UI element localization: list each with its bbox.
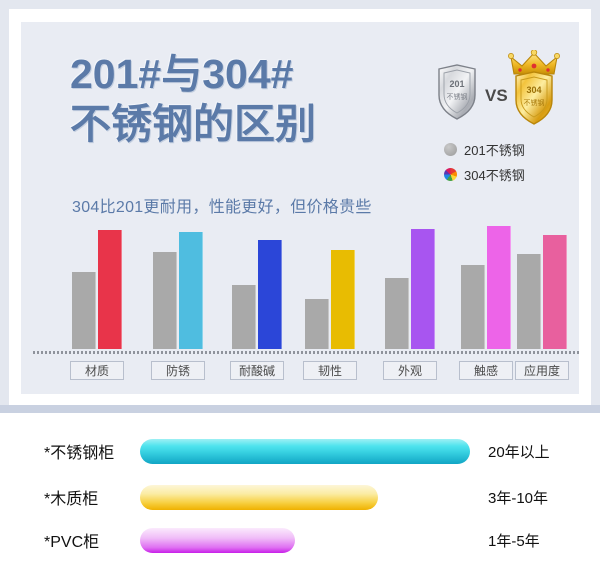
bar-201-6	[517, 254, 541, 349]
svg-text:不锈钢: 不锈钢	[524, 98, 545, 107]
lifespan-label-1: *木质柜	[44, 485, 154, 509]
silver-shield-icon: 201 不锈钢	[435, 64, 479, 125]
chart-group-2	[232, 225, 282, 349]
legend-label-201: 201不锈钢	[464, 140, 525, 159]
lifespan-value-1: 3年-10年	[488, 487, 600, 508]
lifespan-row-2: *PVC柜1年-5年	[0, 526, 600, 554]
chart-category-2: 耐酸碱	[230, 361, 284, 380]
svg-text:不锈钢: 不锈钢	[447, 92, 468, 101]
legend-swatch-rainbow-icon	[444, 168, 457, 181]
section-divider	[0, 405, 600, 413]
legend-swatch-gray-icon	[444, 143, 457, 156]
chart-group-1	[153, 225, 203, 349]
title-line-1: 201#与304#	[70, 49, 316, 99]
chart-baseline	[33, 351, 580, 354]
gold-crown-shield-icon: 304 不锈钢	[508, 50, 560, 131]
badge-comparison: 201 不锈钢	[428, 50, 578, 132]
legend-label-304: 304不锈钢	[464, 165, 525, 184]
chart-category-5: 触感	[459, 361, 513, 380]
lifespan-bar-1	[140, 485, 378, 510]
chart-group-4	[385, 225, 435, 349]
title-line-2: 不锈钢的区别	[70, 99, 316, 149]
bar-201-0	[72, 272, 96, 349]
comparison-card-inner: 201#与304# 不锈钢的区别 304比201更耐用，性能更好，但价格贵些	[21, 22, 579, 394]
lifespan-bar-2	[140, 528, 295, 553]
bar-304-5	[487, 226, 511, 349]
bar-201-4	[385, 278, 409, 349]
bar-304-4	[411, 229, 435, 349]
legend-item-201: 201不锈钢	[444, 140, 525, 159]
chart-category-6: 应用度	[515, 361, 569, 380]
lifespan-row-0: *不锈钢柜20年以上	[0, 437, 600, 465]
chart-category-1: 防锈	[151, 361, 205, 380]
lifespan-value-2: 1年-5年	[488, 530, 600, 551]
chart-category-0: 材质	[70, 361, 124, 380]
bar-304-0	[98, 230, 122, 349]
lifespan-section: *不锈钢柜20年以上*木质柜3年-10年*PVC柜1年-5年	[0, 413, 600, 578]
bar-201-2	[232, 285, 256, 349]
bar-201-5	[461, 265, 485, 349]
legend-item-304: 304不锈钢	[444, 165, 525, 184]
bar-304-6	[543, 235, 567, 349]
chart-category-labels: 材质防锈耐酸碱韧性外观触感应用度	[37, 361, 577, 383]
chart-legend: 201不锈钢 304不锈钢	[444, 140, 525, 190]
vs-label: VS	[485, 86, 508, 106]
bar-201-1	[153, 252, 177, 349]
chart-group-0	[72, 225, 122, 349]
page-title: 201#与304# 不锈钢的区别	[70, 49, 316, 149]
comparison-bar-chart	[37, 225, 577, 349]
bar-304-3	[331, 250, 355, 349]
chart-group-3	[305, 225, 355, 349]
svg-text:201: 201	[449, 79, 464, 89]
bar-304-2	[258, 240, 282, 349]
lifespan-label-2: *PVC柜	[44, 528, 154, 552]
svg-text:304: 304	[526, 85, 541, 95]
chart-category-4: 外观	[383, 361, 437, 380]
subtitle: 304比201更耐用，性能更好，但价格贵些	[72, 193, 372, 217]
lifespan-bar-0	[140, 439, 470, 464]
bar-304-1	[179, 232, 203, 349]
comparison-card: 201#与304# 不锈钢的区别 304比201更耐用，性能更好，但价格贵些	[9, 9, 591, 405]
lifespan-label-0: *不锈钢柜	[44, 439, 154, 463]
chart-category-3: 韧性	[303, 361, 357, 380]
chart-group-5	[461, 225, 511, 349]
bar-201-3	[305, 299, 329, 349]
chart-group-6	[517, 225, 567, 349]
lifespan-row-1: *木质柜3年-10年	[0, 483, 600, 511]
lifespan-value-0: 20年以上	[488, 441, 600, 462]
